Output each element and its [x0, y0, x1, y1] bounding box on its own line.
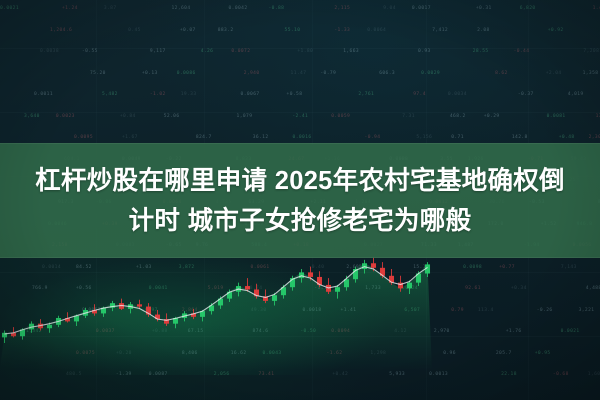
ticker-value: -0.94 — [365, 135, 381, 140]
ticker-value: 0.0087 — [149, 372, 168, 377]
ticker-value: +0.42 — [332, 372, 348, 377]
ticker-value: 1,607 — [588, 372, 600, 377]
ticker-value: 2,056 — [214, 372, 230, 377]
ticker-row: 0.0038-0.559,1174.260.0072+1.801,6630.93… — [0, 49, 600, 54]
banner-bottom-edge — [0, 257, 600, 258]
ticker-value: -0.55 — [82, 49, 98, 54]
ticker-value: 11.47 — [291, 71, 307, 76]
ticker-value: 0.0098 — [463, 265, 482, 270]
ticker-value: 52.06 — [164, 114, 180, 119]
ticker-row: 0.00115,482-1.0219.330.0067+0.582,76197.… — [0, 92, 600, 97]
candlestick-chart — [0, 250, 432, 370]
ticker-row: 0.0095+1.67824.736.120.0016-0.945,1560.7… — [0, 135, 600, 140]
ticker-value: 2,115 — [334, 6, 350, 11]
candlestick-chart-svg — [0, 250, 432, 370]
candle — [119, 299, 124, 310]
ticker-value: 2,761 — [358, 92, 374, 97]
ticker-value: 3.87 — [104, 6, 117, 11]
ticker-value: +1.67 — [122, 135, 138, 140]
ticker-value: 2,307 — [589, 135, 600, 140]
ticker-value: 0.0017 — [412, 6, 431, 11]
ticker-value: 0.96 — [443, 351, 456, 356]
ticker-value: 205.7 — [496, 351, 512, 356]
ticker-value: 7.31 — [402, 114, 415, 119]
ticker-value: +1.80 — [297, 49, 313, 54]
ticker-value: 5,156 — [416, 135, 432, 140]
headline-text: 杠杆炒股在哪里申请 2025年农村宅基地确权倒 计时 城市子女抢修老宅为哪般 — [35, 161, 565, 241]
ticker-value: 0.0038 — [40, 49, 59, 54]
ticker-value: 1,663 — [343, 49, 359, 54]
ticker-value: -1.02 — [150, 92, 166, 97]
ticker-value: 0.45 — [128, 28, 141, 33]
ticker-value: 4.26 — [201, 49, 214, 54]
ticker-value: 0.0086 — [177, 71, 196, 76]
ticker-value: 0.0021 — [0, 6, 19, 11]
ticker-value: 7,143 — [561, 265, 577, 270]
ticker-value: 2.08 — [477, 28, 490, 33]
ticker-value: 883.2 — [218, 28, 234, 33]
ticker-value: 0.79 — [451, 308, 464, 313]
news-banner-image: 0.0021+1.243.8712,6040.0042-0.882,1159.0… — [0, 0, 600, 400]
ticker-value: 1,204.6 — [50, 28, 72, 33]
ticker-value: 0.0064 — [367, 28, 386, 33]
ticker-value: 2,940 — [244, 71, 260, 76]
ticker-value: 5,933 — [389, 372, 405, 377]
ticker-value: 0.93 — [418, 49, 431, 54]
ticker-value: 9.04 — [383, 6, 396, 11]
ticker-value: 97.4 — [413, 92, 426, 97]
ticker-value: 0.71 — [451, 135, 464, 140]
ticker-value: +0.48 — [559, 135, 575, 140]
ticker-value: 22.18 — [501, 372, 517, 377]
ticker-value: 0.0023 — [56, 114, 75, 119]
ticker-value: 468.2 — [450, 114, 466, 119]
ticker-value: -1.33 — [334, 28, 350, 33]
headline-banner: 杠杆炒股在哪里申请 2025年农村宅基地确权倒 计时 城市子女抢修老宅为哪般 — [0, 143, 600, 258]
ticker-value: 0.0072 — [231, 49, 250, 54]
ticker-value: 3,221 — [579, 308, 595, 313]
banner-top-edge — [0, 143, 600, 144]
ticker-value: 0.0059 — [331, 114, 350, 119]
ticker-value: 3,640 — [24, 114, 40, 119]
ticker-value: 142.8 — [512, 135, 528, 140]
ticker-value: 28.55 — [473, 49, 489, 54]
ticker-value: 7,208 — [583, 49, 599, 54]
ticker-row: 75.20+0.130.00862,94011.47-0.79606.30.00… — [0, 71, 600, 76]
ticker-value: 13,220 — [596, 114, 600, 119]
ticker-value: 1,358 — [583, 71, 599, 76]
ticker-value: 9,117 — [150, 49, 166, 54]
ticker-value: 0.0013 — [429, 372, 448, 377]
ticker-value: +0.07 — [180, 28, 196, 33]
ticker-value: 1,079 — [237, 114, 253, 119]
ticker-value: +0.92 — [548, 28, 564, 33]
ticker-value: +0.13 — [142, 71, 158, 76]
ticker-value: +0.95 — [535, 351, 551, 356]
ticker-value: +0.34 — [511, 286, 527, 291]
ticker-value: 5,482 — [102, 92, 118, 97]
ticker-value: 75.20 — [90, 71, 106, 76]
ticker-value: 73.41 — [259, 372, 275, 377]
ticker-value: 55.10 — [285, 28, 301, 33]
ticker-value: +0.84 — [120, 114, 136, 119]
chart-area-fill — [0, 263, 432, 370]
ticker-value: -0.44 — [514, 49, 530, 54]
ticker-value: 1.47 — [593, 6, 600, 11]
ticker-value: 824.7 — [196, 135, 212, 140]
ticker-value: +0.58 — [287, 92, 303, 97]
ticker-value: 2,970 — [434, 329, 450, 334]
ticker-value: 19.33 — [181, 92, 197, 97]
ticker-value: 4,019 — [568, 92, 584, 97]
ticker-row: 1,204.60.45+0.07883.255.10-1.330.00647,4… — [0, 28, 600, 33]
ticker-value: -2.41 — [292, 114, 308, 119]
ticker-value: 0.0029 — [421, 71, 440, 76]
ticker-value: 0.0016 — [293, 135, 312, 140]
ticker-value: 0.0095 — [74, 135, 93, 140]
ticker-value: 0.0034 — [448, 92, 467, 97]
ticker-value: 36.12 — [253, 135, 269, 140]
ticker-value: 480.5 — [66, 372, 82, 377]
ticker-value: -0.37 — [518, 92, 534, 97]
ticker-row: 3,6400.0023+0.8452.061,079-2.410.00597.3… — [0, 114, 600, 119]
ticker-value: -0.79 — [320, 71, 336, 76]
ticker-value: +1.24 — [62, 6, 78, 11]
ticker-value: 6,820 — [520, 6, 536, 11]
ticker-value: -1.39 — [116, 372, 132, 377]
ticker-value: 0.0081 — [547, 114, 566, 119]
candle — [326, 278, 331, 294]
ticker-value: 0.0042 — [229, 6, 248, 11]
headline-line-1: 杠杆炒股在哪里申请 2025年农村宅基地确权倒 — [35, 167, 565, 195]
ticker-value: +1.76 — [506, 329, 522, 334]
headline-line-2: 计时 城市子女抢修老宅为哪般 — [129, 207, 472, 235]
ticker-value: -0.68 — [553, 372, 569, 377]
ticker-value: 606.3 — [379, 71, 395, 76]
ticker-value: 8.62 — [495, 71, 508, 76]
ticker-value: 0.0067 — [241, 92, 260, 97]
ticker-value: +0.31 — [476, 6, 492, 11]
ticker-value: +0.29 — [484, 114, 500, 119]
ticker-value: +0.77 — [499, 265, 515, 270]
ticker-value: -0.88 — [269, 6, 285, 11]
ticker-row: 480.5-1.390.00872,05673.41+0.425,9330.00… — [0, 372, 600, 377]
ticker-value: 4,488 — [586, 286, 600, 291]
ticker-value: -0.26 — [537, 308, 553, 313]
ticker-row: 0.0021+1.243.8712,6040.0042-0.882,1159.0… — [0, 6, 600, 11]
ticker-value: +2.04 — [546, 71, 562, 76]
ticker-value: 0.0021 — [561, 329, 580, 334]
ticker-value: 92.61 — [465, 286, 481, 291]
ticker-value: 7,412 — [432, 28, 448, 33]
ticker-value: 12,604 — [172, 6, 191, 11]
ticker-value: 113.4 — [478, 308, 494, 313]
ticker-value: 0.0011 — [34, 92, 53, 97]
